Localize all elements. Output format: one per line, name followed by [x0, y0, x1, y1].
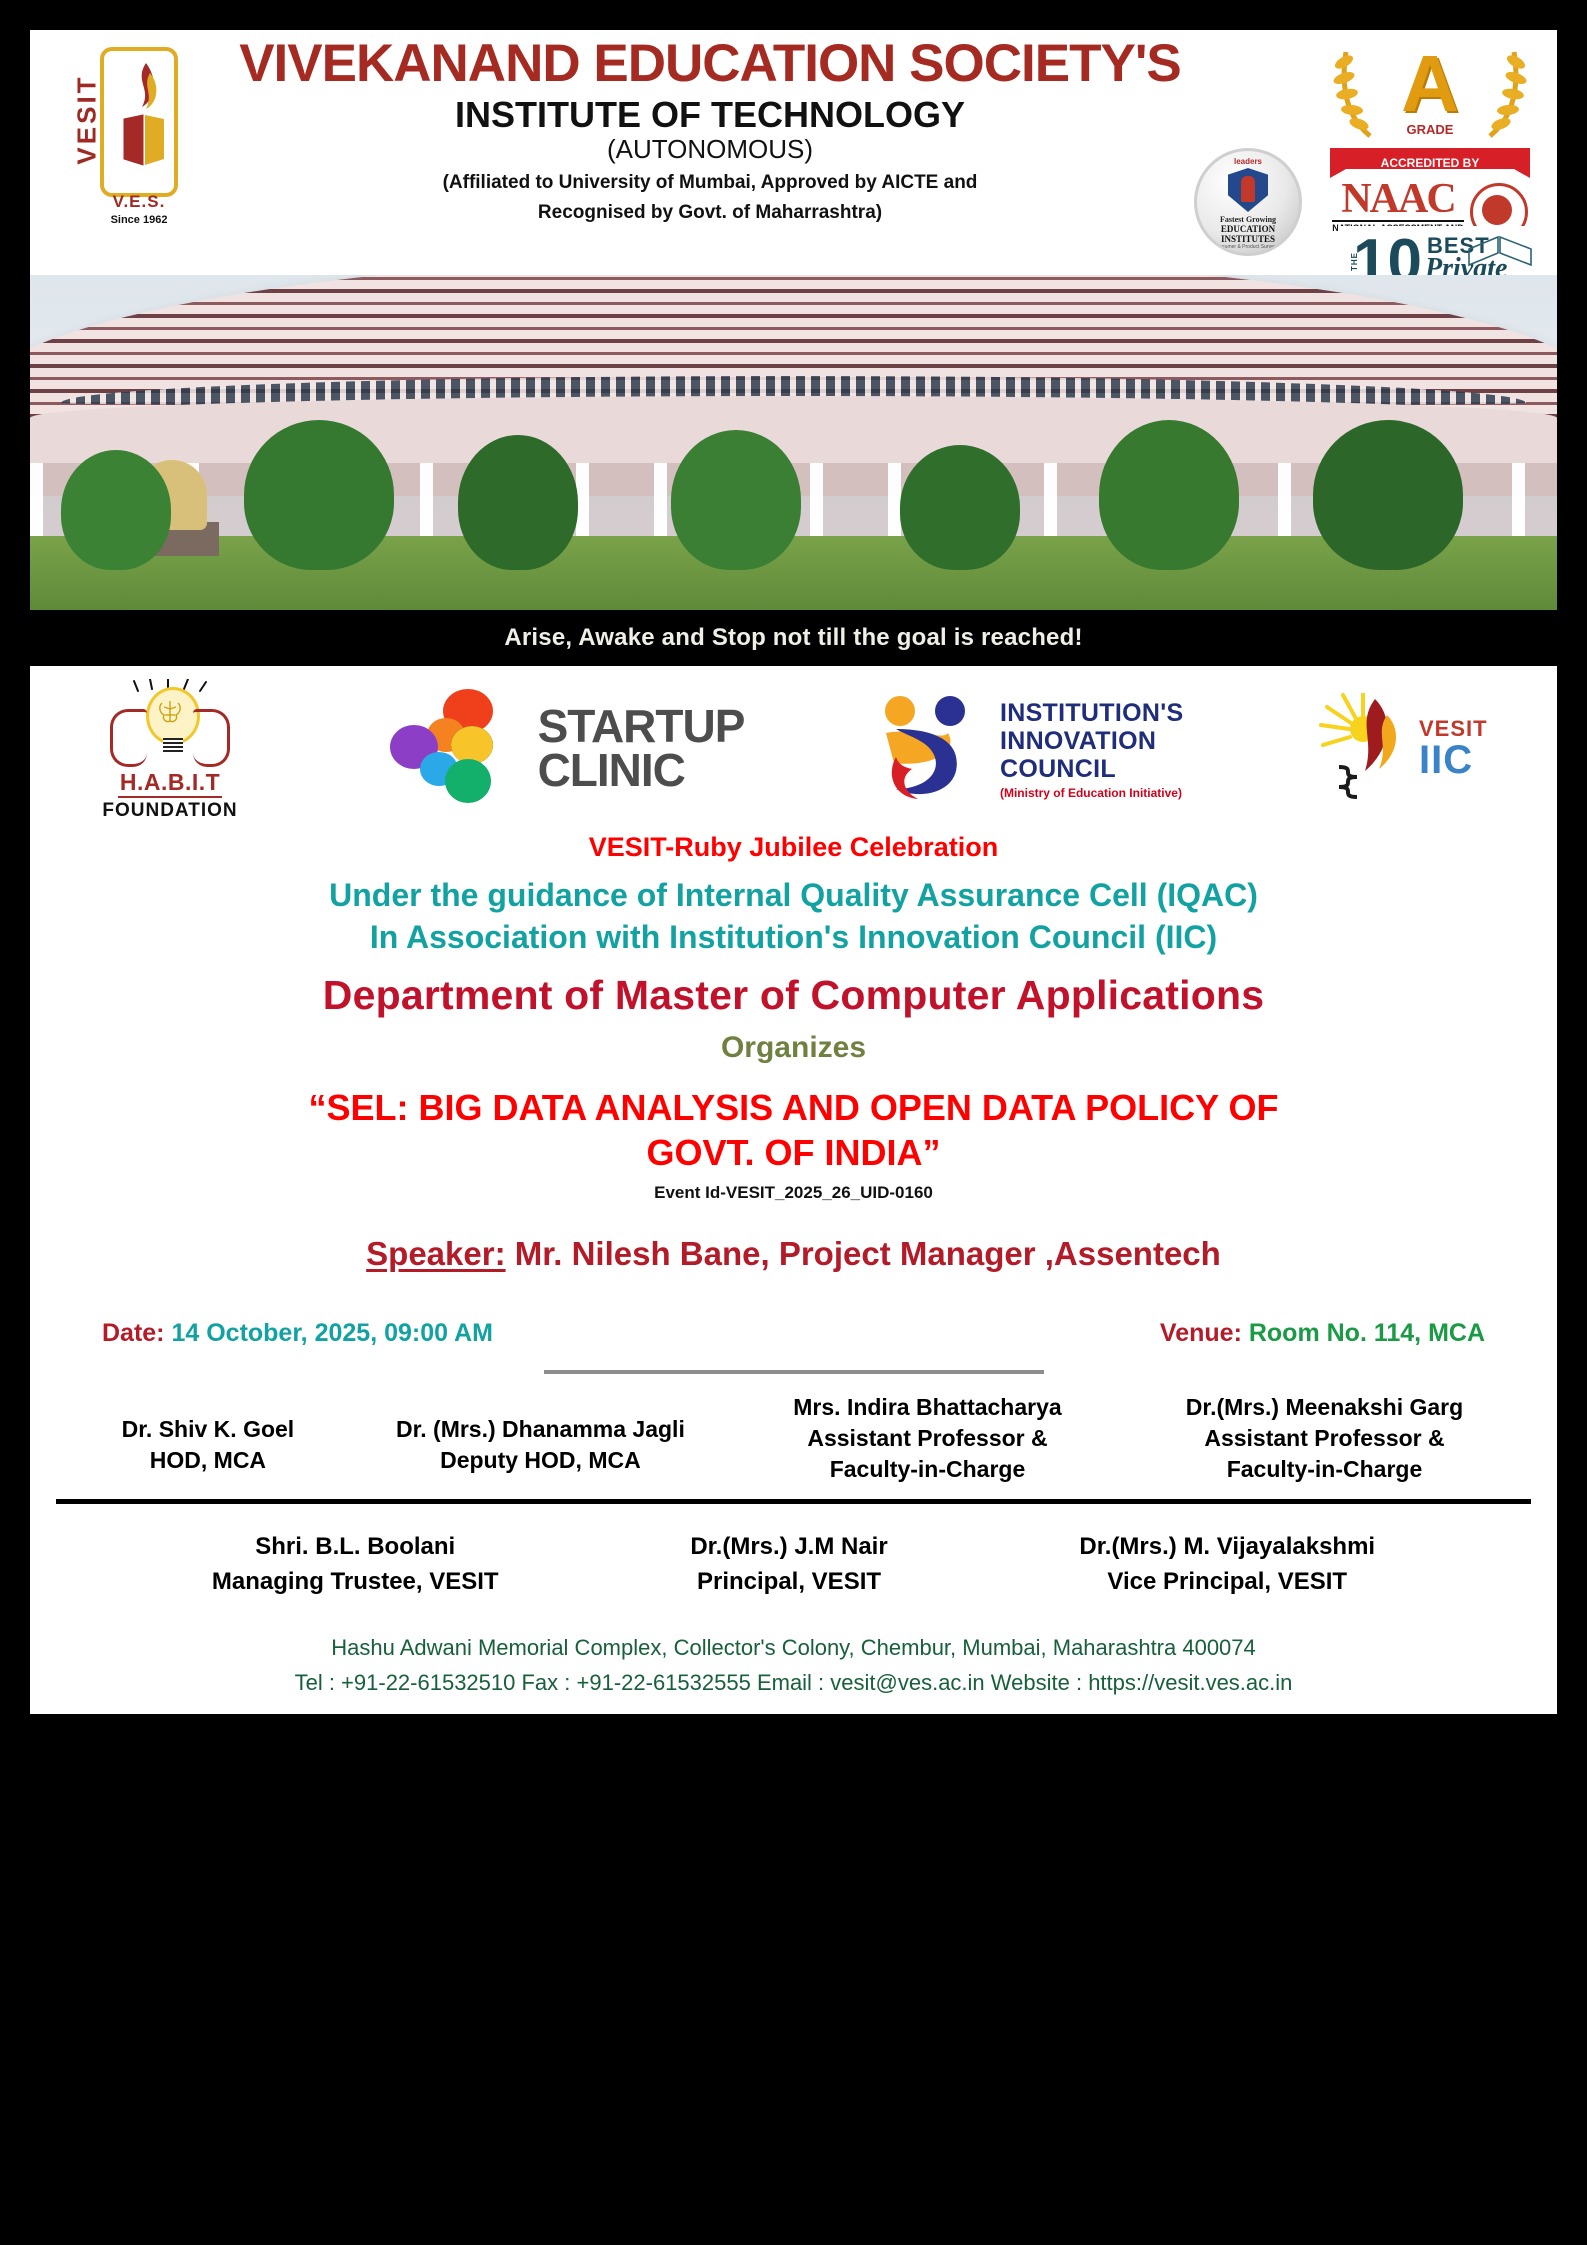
- startup-clinic-line1: STARTUP: [538, 705, 745, 749]
- faculty-name: Dr. Shiv K. Goel: [64, 1414, 352, 1445]
- guidance-block: Under the guidance of Internal Quality A…: [56, 875, 1531, 958]
- photo-tree: [1313, 420, 1463, 570]
- iic-ministry-note: (Ministry of Education Initiative): [1000, 786, 1183, 800]
- footer-contact: Tel : +91-22-61532510 Fax : +91-22-61532…: [56, 1665, 1531, 1700]
- trustee-name: Dr.(Mrs.) M. Vijayalakshmi: [1079, 1530, 1375, 1565]
- iic-mark-icon: [878, 693, 988, 805]
- vesit-logo: VESIT V.E.S. Since 1962: [52, 42, 182, 232]
- faculty-name: Mrs. Indira Bhattacharya: [729, 1392, 1126, 1423]
- shield-icon: [1228, 168, 1268, 212]
- autonomous-label: (AUTONOMOUS): [180, 134, 1240, 165]
- trustees-row: Shri. B.L. Boolani Managing Trustee, VES…: [56, 1530, 1531, 1600]
- startup-clinic-logo: STARTUP CLINIC: [384, 689, 745, 809]
- photo-tree: [458, 435, 578, 570]
- faculty-role-2: Faculty-in-Charge: [729, 1454, 1126, 1485]
- vesit-logo-abbr: V.E.S.: [100, 192, 178, 212]
- faculty-role-1: HOD, MCA: [64, 1445, 352, 1476]
- campus-photo: [30, 275, 1557, 610]
- ten-best-private-badge: THE 10 BEST Private INSTITUTES IN INDIA …: [1338, 226, 1540, 275]
- society-title: VIVEKANAND EDUCATION SOCIETY'S: [180, 36, 1240, 92]
- venue-value: Room No. 114, MCA: [1242, 1319, 1485, 1347]
- faculty-item: Mrs. Indira Bhattacharya Assistant Profe…: [729, 1392, 1126, 1485]
- trustee-item: Dr.(Mrs.) M. Vijayalakshmi Vice Principa…: [1079, 1530, 1375, 1600]
- guidance-line-2: In Association with Institution's Innova…: [56, 917, 1531, 959]
- section-divider-full: [56, 1499, 1531, 1504]
- footer-address: Hashu Adwani Memorial Complex, Collector…: [56, 1630, 1531, 1665]
- event-title-line-1: “SEL: BIG DATA ANALYSIS AND OPEN DATA PO…: [56, 1085, 1531, 1130]
- photo-tree: [671, 430, 801, 570]
- faculty-role-1: Assistant Professor &: [729, 1423, 1126, 1454]
- institute-motto: Arise, Awake and Stop not till the goal …: [30, 610, 1557, 666]
- fastest-growing-line3: Consumer & Product Survey by: [1197, 244, 1299, 250]
- habit-name: H.A.B.I.T: [118, 769, 222, 798]
- partner-logos-row: H.A.B.I.T FOUNDATION STARTUP CLINIC: [56, 674, 1531, 824]
- open-book-icon: [1465, 229, 1535, 273]
- institute-title: INSTITUTE OF TECHNOLOGY: [180, 96, 1240, 134]
- iic-line1: INSTITUTION'S: [1000, 699, 1183, 727]
- guidance-line-1: Under the guidance of Internal Quality A…: [56, 875, 1531, 917]
- trustee-role: Vice Principal, VESIT: [1079, 1565, 1375, 1600]
- trustee-item: Dr.(Mrs.) J.M Nair Principal, VESIT: [690, 1530, 887, 1600]
- fastest-growing-line2: EDUCATION INSTITUTES: [1197, 224, 1299, 244]
- startup-clinic-wordmark: STARTUP CLINIC: [538, 705, 745, 792]
- trustee-name: Shri. B.L. Boolani: [212, 1530, 499, 1565]
- vesit-iic-top: VESIT: [1419, 718, 1488, 740]
- naac-name: NAAC: [1332, 180, 1464, 220]
- brain-icon: [156, 697, 184, 727]
- photo-tree: [61, 450, 171, 570]
- photo-tree: [900, 445, 1020, 570]
- habit-foundation-logo: H.A.B.I.T FOUNDATION: [90, 677, 250, 822]
- naac-grade-wrap: A GRADE: [1320, 42, 1540, 152]
- event-poster: VESIT V.E.S. Since 1962 VIVEKANAND EDUCA…: [0, 0, 1587, 2245]
- naac-accredited-by: ACCREDITED BY: [1330, 148, 1530, 178]
- faculty-item: Dr.(Mrs.) Meenakshi Garg Assistant Profe…: [1126, 1392, 1523, 1485]
- speaker-label: Speaker:: [366, 1235, 505, 1272]
- photo-tree: [244, 420, 394, 570]
- trustee-role: Principal, VESIT: [690, 1565, 887, 1600]
- iic-wordmark: INSTITUTION'S INNOVATION COUNCIL (Minist…: [1000, 699, 1183, 800]
- ruby-jubilee-line: VESIT-Ruby Jubilee Celebration: [56, 832, 1531, 863]
- naac-grade-word: GRADE: [1320, 122, 1540, 137]
- naac-ribbon: ACCREDITED BY: [1330, 148, 1530, 178]
- startup-clinic-mark-icon: [384, 689, 524, 809]
- fastest-growing-badge: leaders Fastest Growing EDUCATION INSTIT…: [1194, 148, 1302, 256]
- institutions-innovation-council-logo: INSTITUTION'S INNOVATION COUNCIL (Minist…: [878, 693, 1183, 805]
- ten-best-number: 10: [1353, 231, 1422, 275]
- iic-line3: COUNCIL: [1000, 755, 1183, 783]
- affiliation-line-2: Recognised by Govt. of Maharrashtra): [180, 201, 1240, 225]
- venue-block: Venue: Room No. 114, MCA: [1160, 1319, 1485, 1348]
- date-block: Date: 14 October, 2025, 09:00 AM: [102, 1319, 493, 1348]
- startup-clinic-line2: CLINIC: [538, 749, 745, 793]
- date-value: 14 October, 2025, 09:00 AM: [165, 1319, 493, 1347]
- date-venue-row: Date: 14 October, 2025, 09:00 AM Venue: …: [56, 1319, 1531, 1348]
- habit-logo-art: [90, 677, 250, 769]
- faculty-row: Dr. Shiv K. Goel HOD, MCA Dr. (Mrs.) Dha…: [56, 1392, 1531, 1485]
- vesit-iic-logo: VESIT IIC: [1317, 693, 1507, 805]
- photo-lawn: [30, 536, 1557, 610]
- speaker-name: Mr. Nilesh Bane, Project Manager ,Assent…: [506, 1235, 1221, 1272]
- vesit-iic-mark-icon: [1317, 693, 1413, 805]
- event-title-line-2: GOVT. OF INDIA”: [56, 1130, 1531, 1175]
- section-divider-short: [544, 1370, 1044, 1374]
- faculty-role-2: Faculty-in-Charge: [1126, 1454, 1523, 1485]
- naac-grade-letter: A: [1320, 44, 1540, 124]
- faculty-item: Dr. Shiv K. Goel HOD, MCA: [64, 1392, 352, 1476]
- header-text-block: VIVEKANAND EDUCATION SOCIETY'S INSTITUTE…: [180, 36, 1240, 225]
- institute-header: VESIT V.E.S. Since 1962 VIVEKANAND EDUCA…: [30, 30, 1557, 275]
- event-id: Event Id-VESIT_2025_26_UID-0160: [56, 1183, 1531, 1203]
- footer-block: Hashu Adwani Memorial Complex, Collector…: [56, 1630, 1531, 1704]
- vesit-logo-since: Since 1962: [94, 214, 184, 226]
- faculty-role-1: Deputy HOD, MCA: [352, 1445, 729, 1476]
- vesit-logo-vertical-text: VESIT: [72, 55, 103, 185]
- vesit-iic-bottom: IIC: [1419, 740, 1488, 780]
- affiliation-line-1: (Affiliated to University of Mumbai, App…: [180, 171, 1240, 195]
- naac-badge: A GRADE ACCREDITED BY NAAC NATIONAL ASSE…: [1320, 42, 1540, 242]
- faculty-name: Dr. (Mrs.) Dhanamma Jagli: [352, 1414, 729, 1445]
- date-label: Date:: [102, 1319, 165, 1347]
- venue-label: Venue:: [1160, 1319, 1242, 1347]
- vesit-logo-badge: [100, 47, 178, 197]
- faculty-role-1: Assistant Professor &: [1126, 1423, 1523, 1454]
- flame-book-icon: [122, 59, 166, 179]
- vesit-iic-wordmark: VESIT IIC: [1419, 718, 1488, 780]
- hand-right-icon: [193, 709, 230, 767]
- iic-line2: INNOVATION: [1000, 727, 1183, 755]
- faculty-name: Dr.(Mrs.) Meenakshi Garg: [1126, 1392, 1523, 1423]
- poster-body: H.A.B.I.T FOUNDATION STARTUP CLINIC: [30, 666, 1557, 1714]
- trustee-item: Shri. B.L. Boolani Managing Trustee, VES…: [212, 1530, 499, 1600]
- organizes-label: Organizes: [56, 1031, 1531, 1065]
- fastest-growing-line1: Fastest Growing: [1197, 215, 1299, 224]
- trustee-role: Managing Trustee, VESIT: [212, 1565, 499, 1600]
- faculty-item: Dr. (Mrs.) Dhanamma Jagli Deputy HOD, MC…: [352, 1392, 729, 1476]
- speaker-line: Speaker: Mr. Nilesh Bane, Project Manage…: [56, 1235, 1531, 1273]
- event-title: “SEL: BIG DATA ANALYSIS AND OPEN DATA PO…: [56, 1085, 1531, 1175]
- hand-left-icon: [110, 709, 147, 767]
- trustee-name: Dr.(Mrs.) J.M Nair: [690, 1530, 887, 1565]
- habit-sub: FOUNDATION: [90, 800, 250, 822]
- photo-tree: [1099, 420, 1239, 570]
- department-name: Department of Master of Computer Applica…: [56, 972, 1531, 1019]
